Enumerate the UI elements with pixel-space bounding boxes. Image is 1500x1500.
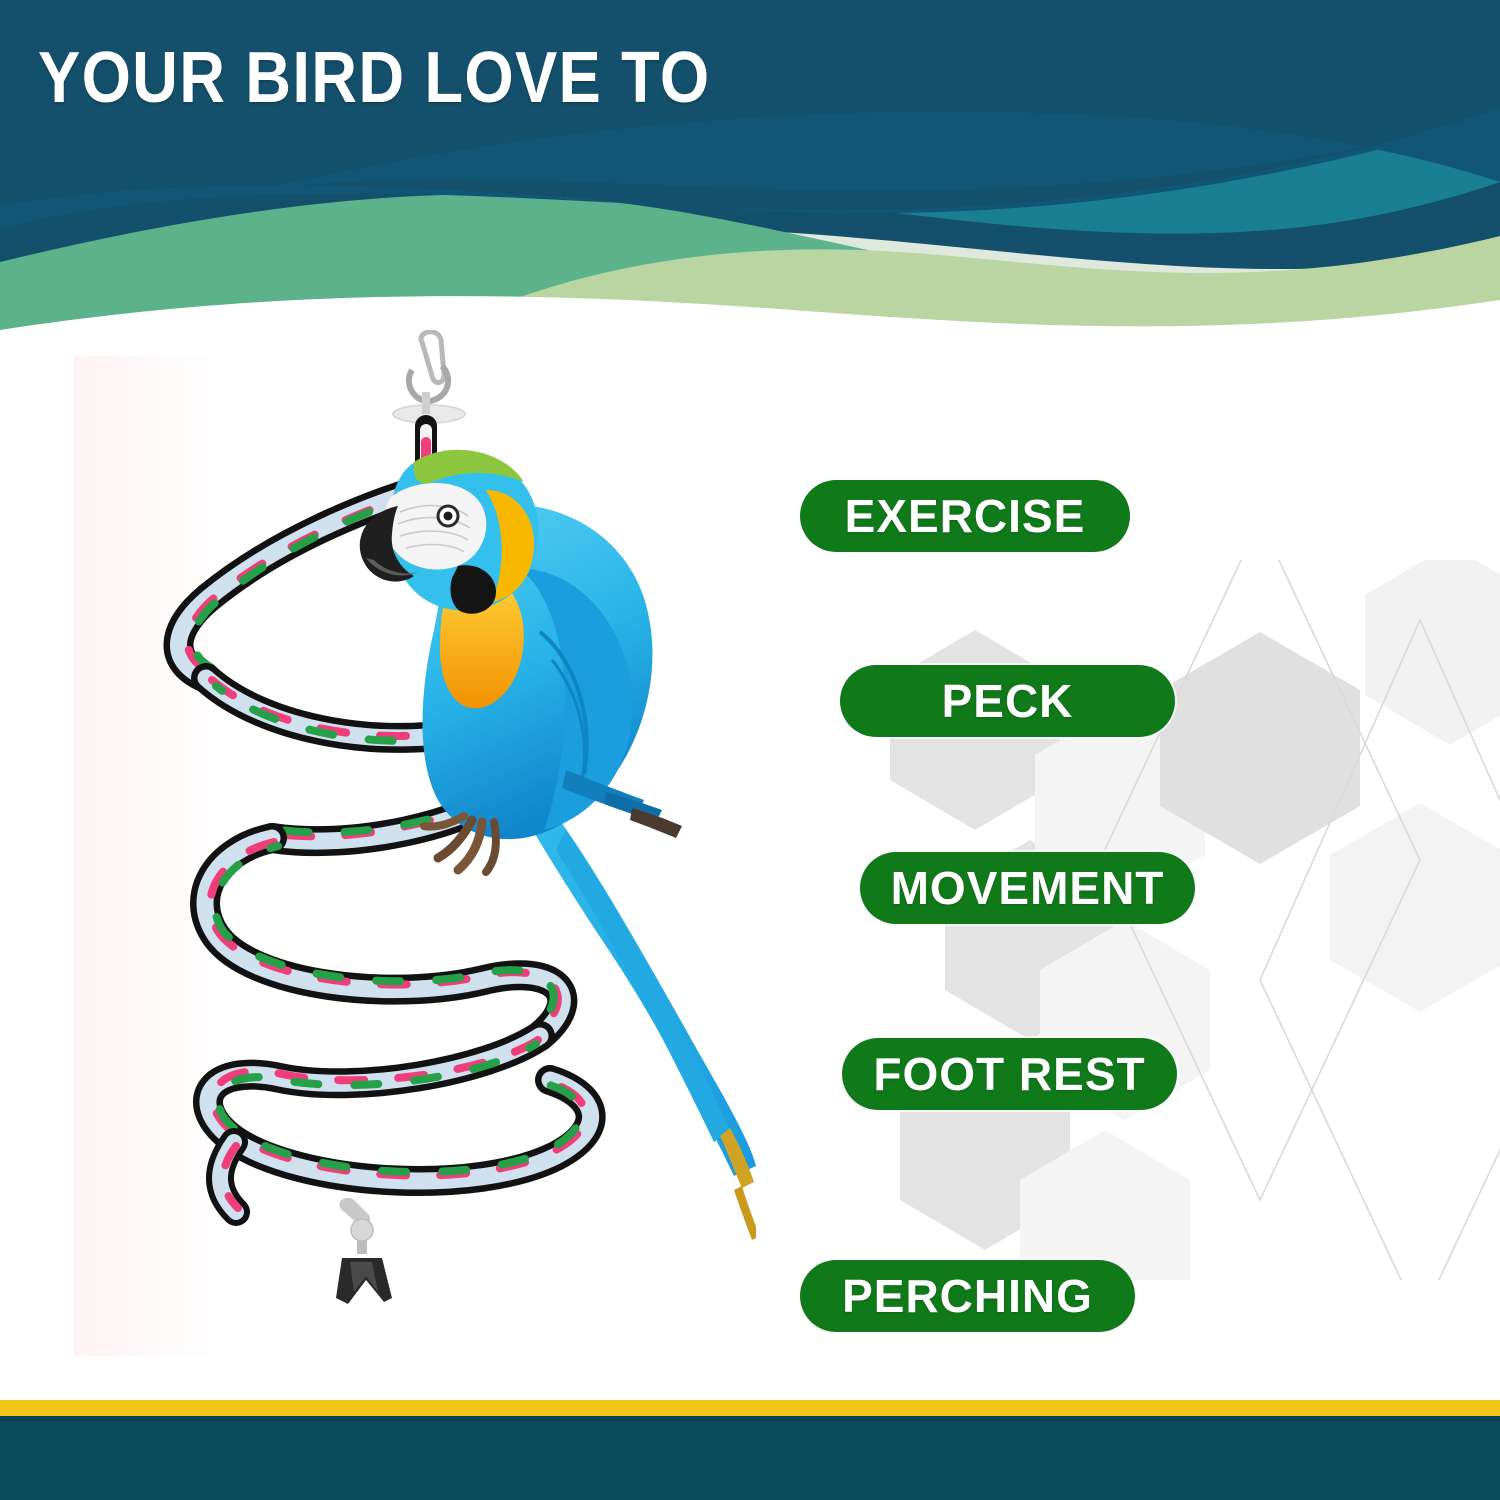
benefit-pill-exercise[interactable]: EXERCISE	[800, 480, 1130, 552]
benefit-pill-label: FOOT REST	[873, 1047, 1145, 1101]
benefit-pill-foot-rest[interactable]: FOOT REST	[842, 1038, 1177, 1110]
footer-bar	[0, 1421, 1500, 1500]
benefit-pill-label: PECK	[942, 674, 1074, 728]
benefit-pill-label: EXERCISE	[845, 489, 1086, 543]
benefit-pill-label: PERCHING	[842, 1269, 1093, 1323]
page-title: YOUR BIRD LOVE TO	[38, 36, 711, 120]
header-banner: YOUR BIRD LOVE TO	[0, 0, 1500, 340]
footer-accent-stripe	[0, 1400, 1500, 1416]
benefit-pill-label: MOVEMENT	[891, 861, 1165, 915]
benefit-pill-movement[interactable]: MOVEMENT	[860, 852, 1195, 924]
infographic-page: YOUR BIRD LOVE TO	[0, 0, 1500, 1500]
benefit-list: EXERCISE PECK MOVEMENT FOOT REST PERCHIN…	[0, 440, 1500, 1360]
benefit-pill-perching[interactable]: PERCHING	[800, 1260, 1135, 1332]
benefit-pill-peck[interactable]: PECK	[840, 665, 1175, 737]
